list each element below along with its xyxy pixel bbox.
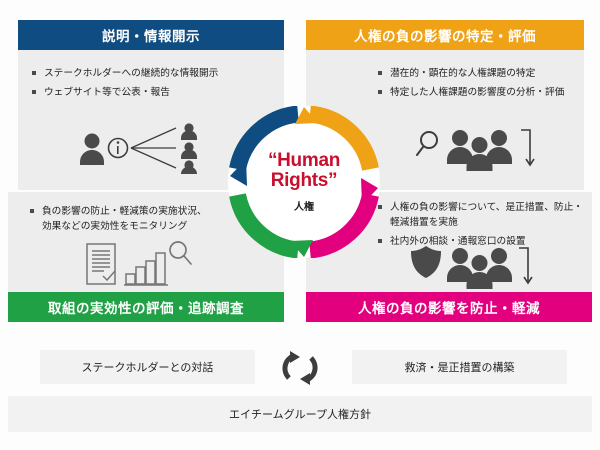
three-people-group-icon — [447, 248, 512, 289]
evaluate-track-icon-group — [84, 240, 196, 290]
quadrant-evaluate-track-title: 取組の実効性の評価・追跡調査 — [8, 292, 284, 322]
stakeholder-dialogue-box: ステークホルダーとの対話 — [40, 350, 255, 384]
magnifier-people-arrow-icon — [416, 126, 536, 174]
magnifier-icon — [417, 132, 437, 155]
human-rights-due-diligence-diagram: 説明・情報開示 ステークホルダーへの継続的な情報開示 ウェブサイト等で公表・報告 — [0, 0, 600, 450]
three-people-stacked-icon — [181, 123, 197, 174]
explain-disclose-bullet-list: ステークホルダーへの継続的な情報開示 ウェブサイト等で公表・報告 — [32, 66, 276, 104]
human-rights-cycle-graphic — [228, 106, 380, 258]
identify-assess-bullet-list: 潜在的・顕在的な人権課題の特定 特定した人権課題の影響度の分析・評価 — [378, 66, 576, 104]
list-item: 特定した人権課題の影響度の分析・評価 — [378, 85, 576, 100]
shield-people-arrow-icon — [410, 244, 534, 292]
bar-chart-icon — [124, 253, 168, 285]
quadrant-identify-assess-title: 人権の負の影響の特定・評価 — [306, 20, 584, 50]
explain-disclose-icon-group — [76, 122, 206, 174]
remedy-corrective-measures-box: 救済・是正措置の構築 — [352, 350, 567, 384]
ateam-group-human-rights-policy-box: エイチームグループ人権方針 — [8, 396, 592, 432]
three-people-group-icon — [447, 130, 512, 171]
person-info-broadcast-icon — [76, 122, 206, 174]
evaluate-track-bullet-list: 負の影響の防止・軽減策の実施状況、効果などの実効性をモニタリング — [30, 204, 214, 238]
list-item: ステークホルダーへの継続的な情報開示 — [32, 66, 276, 81]
list-item: 潜在的・顕在的な人権課題の特定 — [378, 66, 576, 81]
refresh-cycle-icon — [278, 348, 322, 388]
magnifier-icon — [170, 242, 191, 264]
checked-document-icon — [87, 244, 115, 284]
broadcast-lines-icon — [131, 128, 176, 168]
prevent-mitigate-icon-group — [410, 244, 534, 292]
identify-assess-icon-group — [416, 126, 536, 174]
shield-icon — [411, 246, 441, 278]
document-chart-magnifier-icon — [84, 240, 196, 290]
down-arrow-icon — [521, 130, 534, 165]
quadrant-explain-disclose-title: 説明・情報開示 — [18, 20, 284, 50]
down-arrow-icon — [519, 248, 532, 283]
list-item: 負の影響の防止・軽減策の実施状況、効果などの実効性をモニタリング — [30, 204, 214, 234]
list-item: 人権の負の影響について、是正措置、防止・軽減措置を実施 — [378, 200, 586, 230]
list-item: ウェブサイト等で公表・報告 — [32, 85, 276, 100]
quadrant-prevent-mitigate-title: 人権の負の影響を防止・軽減 — [306, 292, 592, 322]
